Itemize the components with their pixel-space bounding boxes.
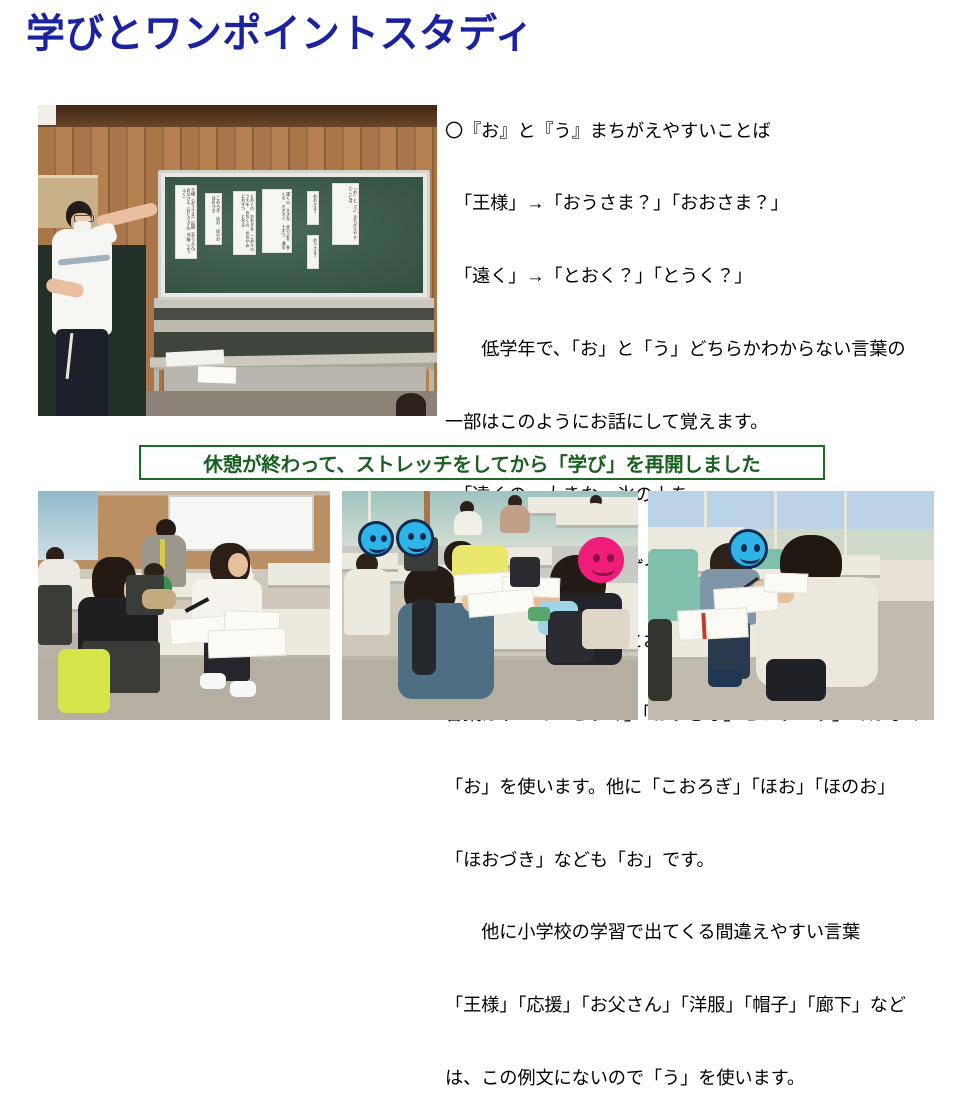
caption-text: 休憩が終わって、ストレッチをしてから「学び」を再開しました bbox=[203, 448, 760, 477]
smiley-eye-icon bbox=[420, 533, 426, 540]
smiley-eye-icon bbox=[593, 554, 600, 562]
text-line: 「王様」「応援」「お父さん」「洋服」「帽子」「廊下」など bbox=[445, 993, 950, 1017]
smiley-mouth-icon bbox=[740, 551, 760, 564]
student-head bbox=[396, 393, 426, 416]
photo-pairwork-2 bbox=[342, 491, 638, 720]
smiley-mouth-icon bbox=[369, 541, 386, 553]
text-line: は、この例文にないので「う」を使います。 bbox=[445, 1066, 950, 1090]
backpack-strap bbox=[412, 599, 436, 675]
board-card: おうさま？ bbox=[307, 235, 319, 269]
desk bbox=[268, 563, 330, 588]
whiteboard bbox=[168, 495, 314, 551]
shoe bbox=[230, 681, 256, 697]
teacher-face-mask bbox=[74, 221, 91, 232]
person-body bbox=[454, 511, 482, 535]
caption-banner: 休憩が終わって、ストレッチをしてから「学び」を再開しました bbox=[139, 445, 825, 480]
bag bbox=[648, 619, 672, 701]
photo-lesson: 王様（おうさま）応援（おうえん）お父さん（おとうさん）洋服（ようふく） こおろぎ… bbox=[38, 105, 437, 416]
wall-corner-light bbox=[38, 105, 56, 125]
backpack bbox=[58, 649, 110, 713]
board-card: こおろぎ ほお ほのお ほおづき bbox=[205, 193, 222, 245]
person-body bbox=[344, 569, 390, 635]
chair bbox=[510, 557, 540, 587]
tray-paper bbox=[198, 366, 237, 383]
board-card: 王様（おうさま）応援（おうえん）お父さん（おとうさん）洋服（ようふく） bbox=[175, 185, 197, 259]
page-title: 学びとワンポイントスタディ bbox=[26, 12, 534, 56]
text-line: 「遠く」→「とおく？」「とうく？」 bbox=[445, 264, 950, 288]
open-notebook bbox=[677, 607, 748, 641]
board-card: とおくの おおきな こおりのうえを おおくの おおかみ とおずつ とおる bbox=[233, 191, 256, 255]
greenboard: 王様（おうさま）応援（おうえん）お父さん（おとうさん）洋服（ようふく） こおろぎ… bbox=[158, 170, 430, 300]
text-line: 一部はこのようにお話にして覚えます。 bbox=[445, 410, 950, 434]
worksheet bbox=[764, 572, 809, 594]
smiley-face-mask-icon bbox=[358, 521, 394, 557]
shoe bbox=[200, 673, 226, 689]
text-line: 低学年で、「お」と「う」どちらかわからない言葉の bbox=[445, 337, 950, 361]
board-card: おおさま？ bbox=[307, 191, 319, 225]
smiley-mouth-icon bbox=[408, 540, 426, 552]
eraser bbox=[528, 607, 550, 621]
bag bbox=[142, 589, 176, 609]
text-line: 「お」を使います。他に「こおろぎ」「ほお」「ほのお」 bbox=[445, 775, 950, 799]
learner-seat bbox=[766, 659, 826, 701]
smiley-eye-icon bbox=[408, 533, 414, 540]
smiley-mouth-icon bbox=[592, 562, 615, 576]
photo-pairwork-1 bbox=[38, 491, 330, 720]
board-card: 遠くの 大きな 氷の上を 多くの オオカミ 十ずつ 通る bbox=[262, 189, 292, 253]
text-line: 〇『お』と『う』まちがえやすいことば bbox=[445, 119, 950, 143]
teacher-trousers bbox=[56, 329, 108, 416]
wall-top-trim bbox=[38, 105, 437, 127]
shoe bbox=[708, 669, 742, 687]
smiley-face-mask-icon bbox=[728, 529, 768, 569]
learner-hand bbox=[228, 553, 248, 577]
text-line: 他に小学校の学習で出てくる間違えやすい言葉 bbox=[445, 920, 950, 944]
text-line: 「ほおづき」なども「お」です。 bbox=[445, 848, 950, 872]
smiley-eye-icon bbox=[607, 554, 614, 562]
classroom-floor bbox=[146, 391, 437, 416]
worksheet bbox=[208, 628, 287, 659]
person-body bbox=[500, 505, 530, 533]
window-mullion bbox=[844, 491, 847, 560]
bag bbox=[582, 609, 630, 649]
smiley-face-mask-icon bbox=[578, 537, 624, 583]
smiley-face-mask-icon bbox=[396, 519, 434, 557]
greenboard-surface bbox=[165, 177, 423, 293]
chair bbox=[38, 585, 72, 645]
board-card: 「お」と「う」まちがえやすいことば bbox=[332, 183, 359, 245]
person-body bbox=[582, 503, 608, 525]
text-line: 「王様」→「おうさま？」「おおさま？」 bbox=[445, 191, 950, 215]
photo-pairwork-3 bbox=[648, 491, 934, 720]
